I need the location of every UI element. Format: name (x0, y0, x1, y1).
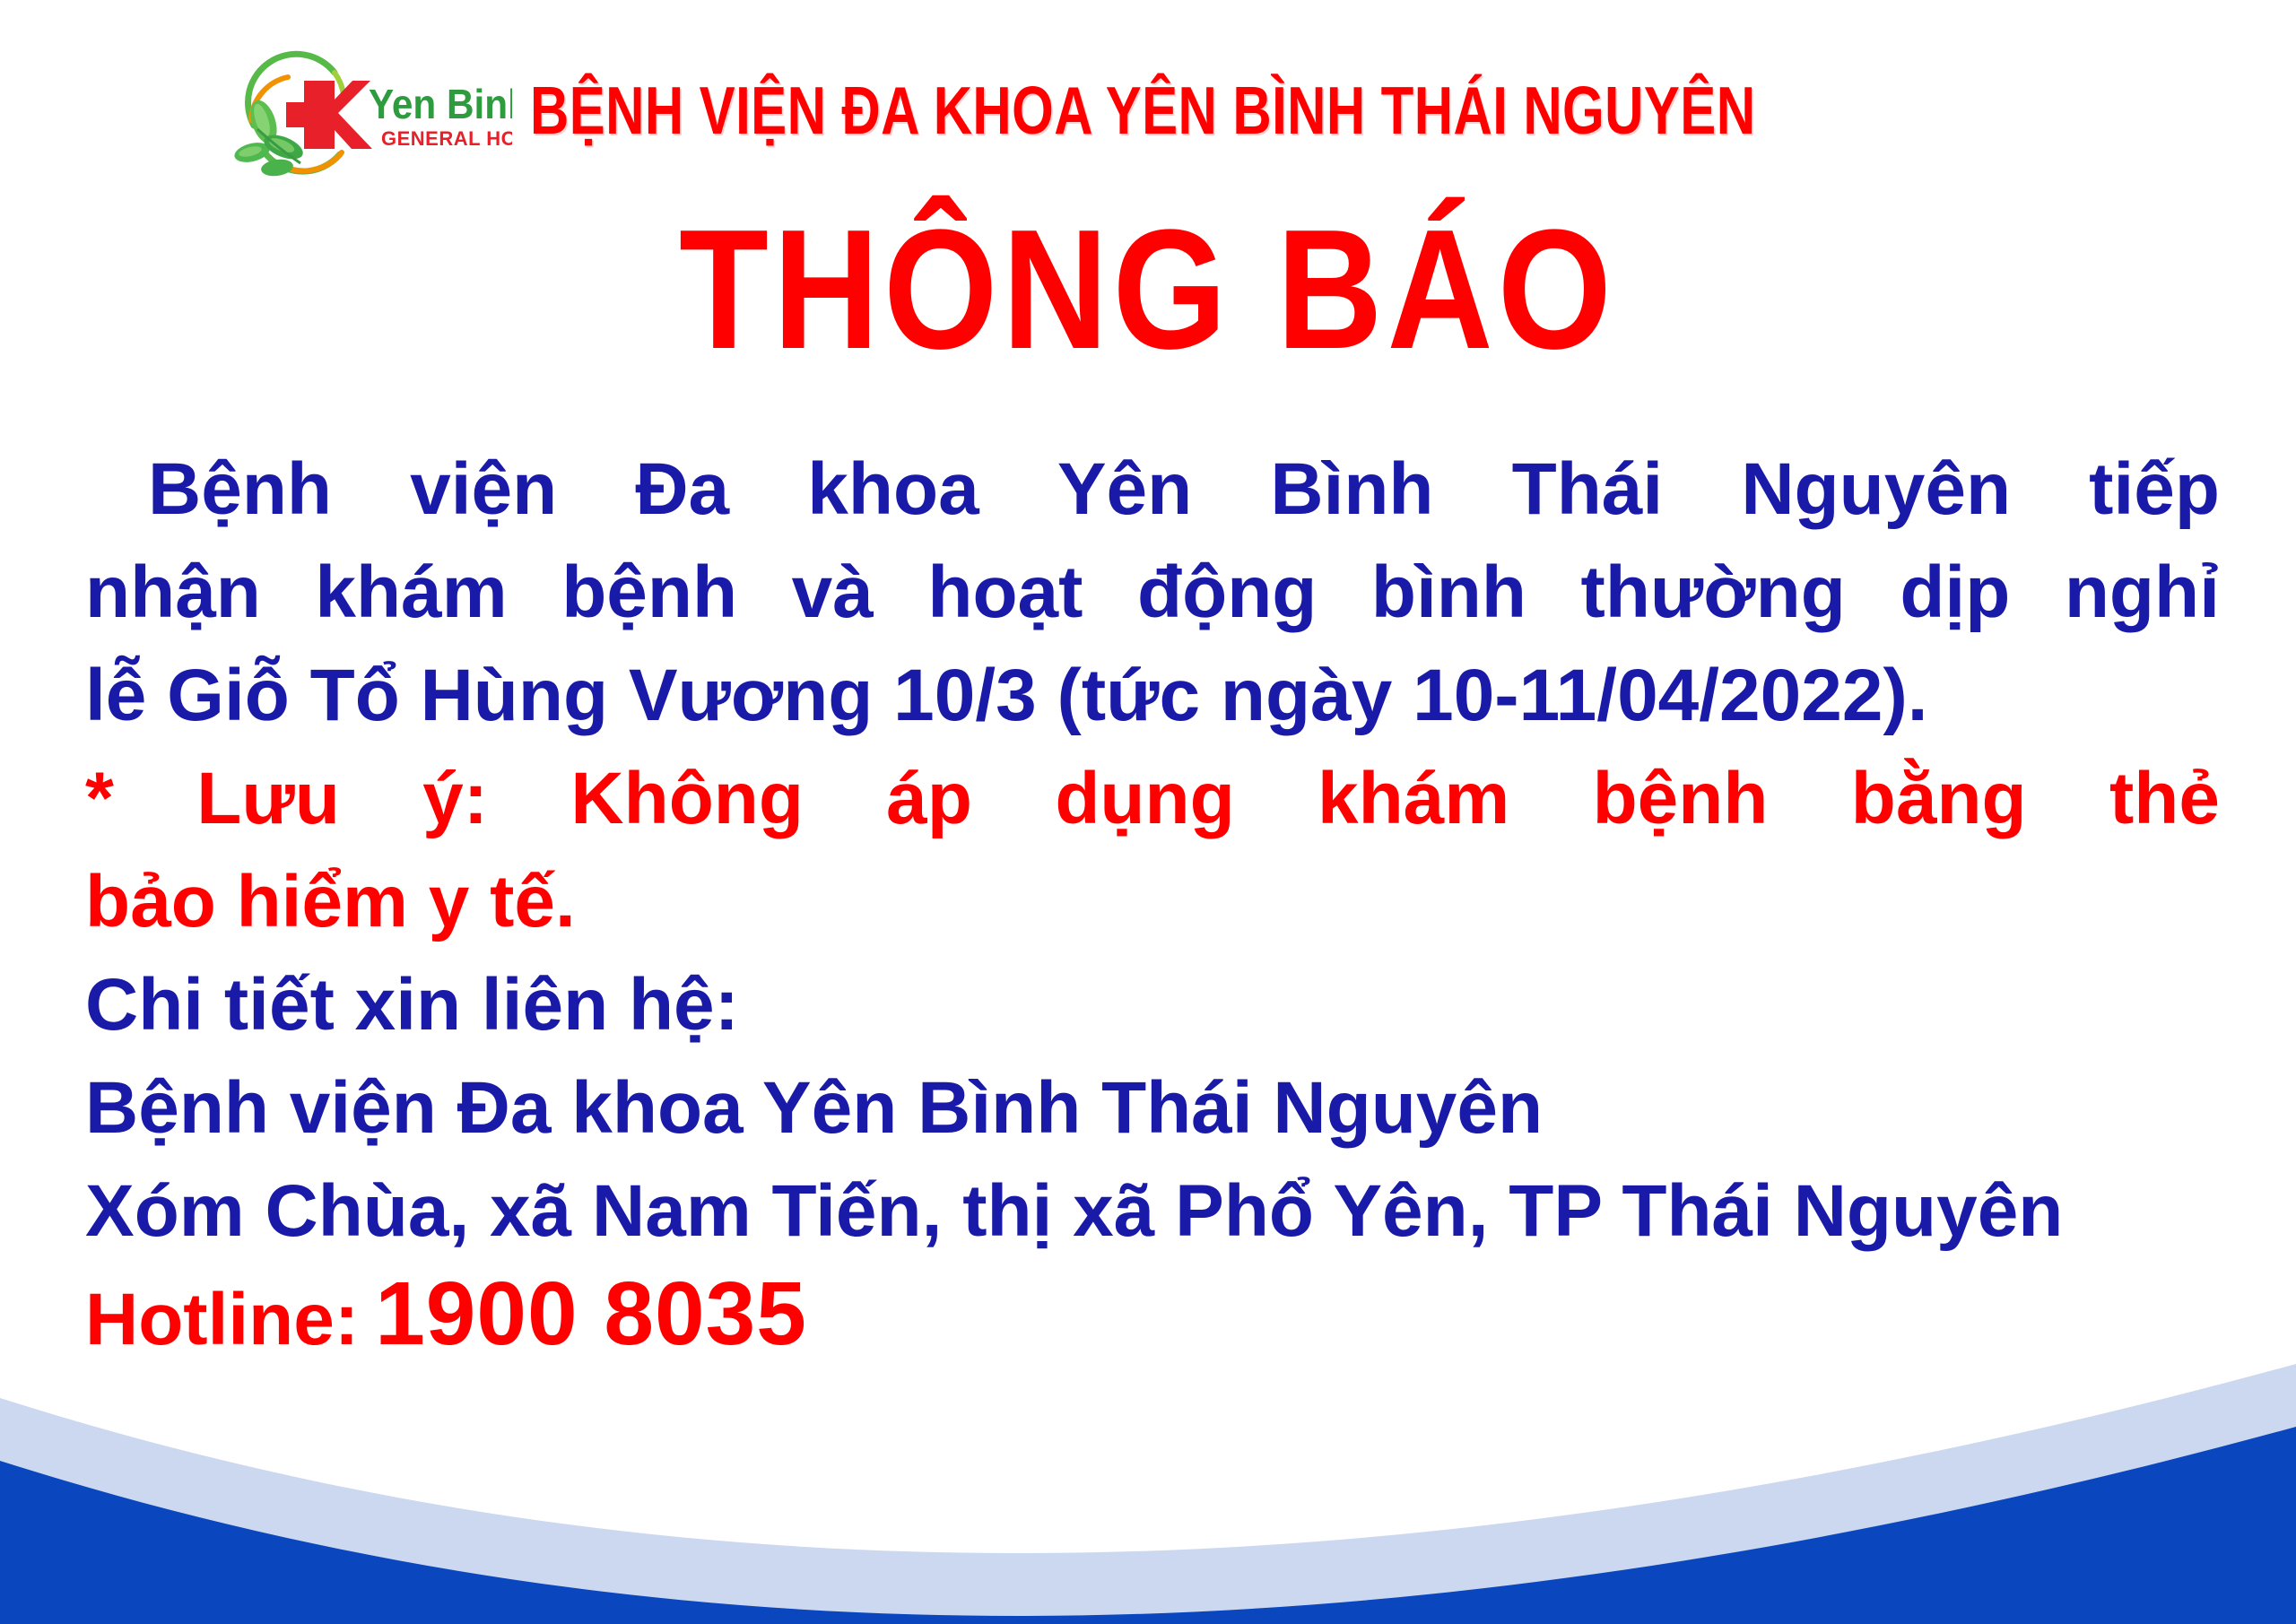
word: động (1137, 541, 1317, 644)
word: Bình (1270, 438, 1433, 541)
word: khoa (807, 438, 978, 541)
word: thẻ (2109, 747, 2220, 850)
word: Thái (1512, 438, 1664, 541)
word: ý: (422, 747, 488, 850)
contact-hospital-name: Bệnh viện Đa khoa Yên Bình Thái Nguyên (85, 1056, 2220, 1159)
page-header: Yen Binh GENERAL HOSPITAL BỆNH VIỆN ĐA K… (0, 43, 2296, 178)
word: dụng (1055, 747, 1234, 850)
word: bệnh (1593, 747, 1769, 850)
word: hoạt (927, 541, 1083, 644)
logo-sub-text: GENERAL HOSPITAL (381, 127, 512, 150)
wave-dark-band (0, 1427, 2296, 1624)
word: Yên (1057, 438, 1192, 541)
word: nhận (85, 541, 261, 644)
contact-address: Xóm Chùa, xã Nam Tiến, thị xã Phổ Yên, T… (85, 1159, 2220, 1263)
bottom-wave-decoration (0, 1328, 2296, 1624)
word: * (85, 747, 114, 850)
contact-heading: Chi tiết xin liên hệ: (85, 953, 2220, 1056)
note-line-1: * Lưu ý: Không áp dụng khám bệnh bằng th… (85, 747, 2220, 850)
page-title-text: THÔNG BÁO (680, 204, 1617, 375)
word: khám (315, 541, 507, 644)
word: thường (1581, 541, 1846, 644)
word: Lưu (196, 747, 340, 850)
word: dịp (1900, 541, 2010, 644)
word: bình (1371, 541, 1526, 644)
body-line-1: Bệnh viện Đa khoa Yên Bình Thái Nguyên t… (85, 438, 2220, 541)
logo-brand-text: Yen Binh (369, 82, 512, 127)
word: áp (886, 747, 972, 850)
hotline-number[interactable]: 1900 8035 (359, 1264, 807, 1364)
word: Bệnh (148, 438, 332, 541)
note-line-2: bảo hiểm y tế. (85, 850, 2220, 953)
word: Không (570, 747, 804, 850)
organization-name: BỆNH VIỆN ĐA KHOA YÊN BÌNH THÁI NGUYÊN (530, 77, 1755, 144)
red-cross-mark (286, 81, 372, 149)
body-line-2: nhận khám bệnh và hoạt động bình thường … (85, 541, 2220, 644)
page-title: THÔNG BÁO (0, 204, 2296, 375)
word: khám (1318, 747, 1509, 850)
word: và (792, 541, 874, 644)
word: bệnh (561, 541, 737, 644)
word: Nguyên (1741, 438, 2011, 541)
word: Đa (635, 438, 729, 541)
hotline-label: Hotline: (85, 1279, 359, 1360)
body-line-3: lễ Giỗ Tổ Hùng Vương 10/3 (tức ngày 10-1… (85, 644, 2220, 747)
word: bằng (1851, 747, 2027, 850)
hotline-row: Hotline:1900 8035 (85, 1263, 2220, 1371)
notice-body: Bệnh viện Đa khoa Yên Bình Thái Nguyên t… (85, 438, 2220, 1371)
wave-light-band (0, 1364, 2296, 1624)
word: nghỉ (2065, 541, 2220, 644)
word: viện (410, 438, 557, 541)
hospital-logo: Yen Binh GENERAL HOSPITAL (234, 43, 512, 178)
word: tiếp (2089, 438, 2220, 541)
